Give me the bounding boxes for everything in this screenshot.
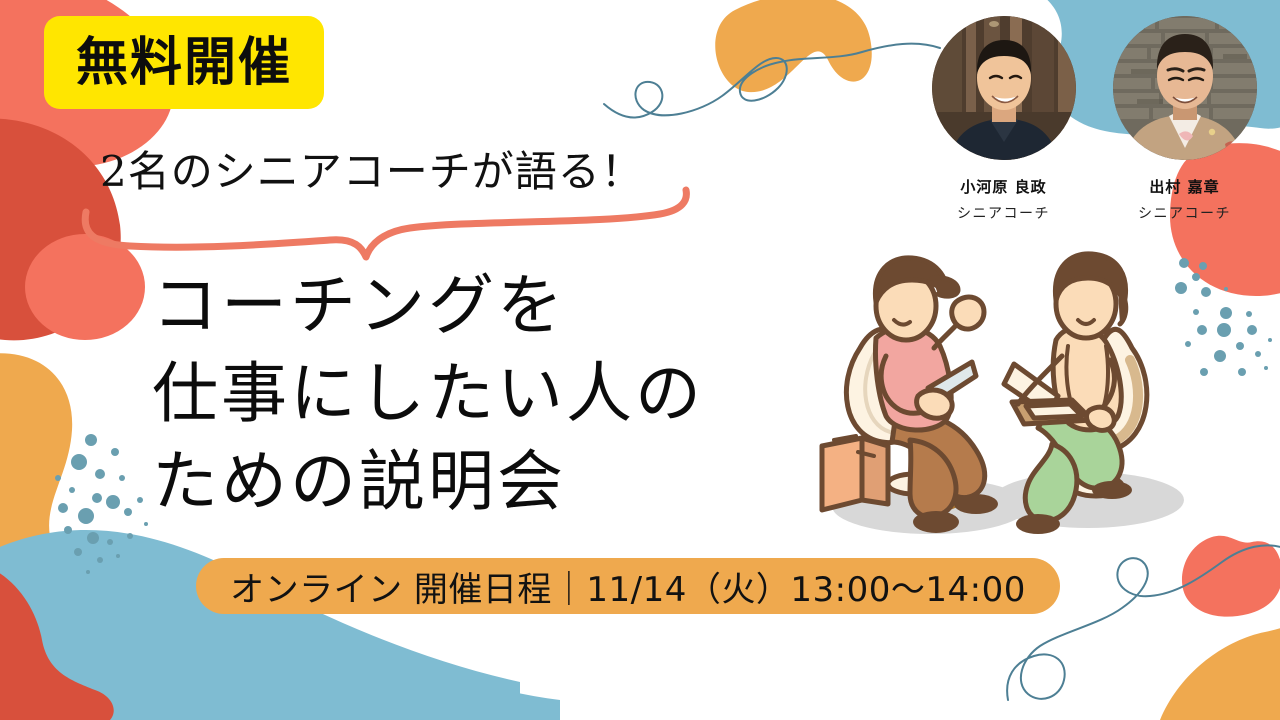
coach-role-2: シニアコーチ bbox=[1138, 203, 1231, 223]
left-salmon-circle bbox=[25, 234, 145, 340]
date-banner-text: オンライン 開催日程｜11/14（火）13:00〜14:00 bbox=[230, 562, 1026, 611]
coaching-session-illustration bbox=[800, 228, 1200, 558]
free-event-badge: 無料開催 bbox=[44, 16, 324, 109]
poster-canvas: 無料開催 2名のシニアコーチが語る！ コーチングを 仕事にしたい人の ための説明… bbox=[0, 0, 1280, 720]
coach-list: 小河原 良政 シニアコーチ bbox=[920, 16, 1268, 223]
coach-name-2: 出村 嘉章 bbox=[1149, 176, 1219, 197]
main-title-line-1: コーチングを bbox=[152, 262, 704, 350]
main-title-line-2: 仕事にしたい人の bbox=[152, 350, 704, 438]
coach-name-1: 小河原 良政 bbox=[960, 176, 1046, 197]
coach-card-2: 出村 嘉章 シニアコーチ bbox=[1101, 16, 1268, 223]
coach-role-1: シニアコーチ bbox=[957, 203, 1050, 223]
coach-avatar-2 bbox=[1113, 16, 1257, 160]
coach-avatar-1 bbox=[932, 16, 1076, 160]
main-title-line-3: ための説明会 bbox=[152, 438, 704, 526]
left-teal-dots bbox=[55, 434, 148, 574]
bottom-left-blue-wave-upper bbox=[0, 530, 520, 700]
top-center-orange-blob bbox=[715, 0, 872, 92]
left-orange-blob bbox=[0, 353, 72, 612]
main-title: コーチングを 仕事にしたい人の ための説明会 bbox=[152, 262, 704, 525]
bottom-right-orange-blob bbox=[1160, 620, 1280, 720]
bottom-left-deep-coral-blob bbox=[0, 559, 114, 720]
coach-card-1: 小河原 良政 シニアコーチ bbox=[920, 16, 1087, 223]
lead-copy-text: 2名のシニアコーチが語る！ bbox=[100, 138, 644, 199]
free-event-badge-label: 無料開催 bbox=[76, 37, 292, 89]
top-squiggle-line bbox=[604, 44, 940, 118]
date-banner: オンライン 開催日程｜11/14（火）13:00〜14:00 bbox=[196, 558, 1060, 614]
